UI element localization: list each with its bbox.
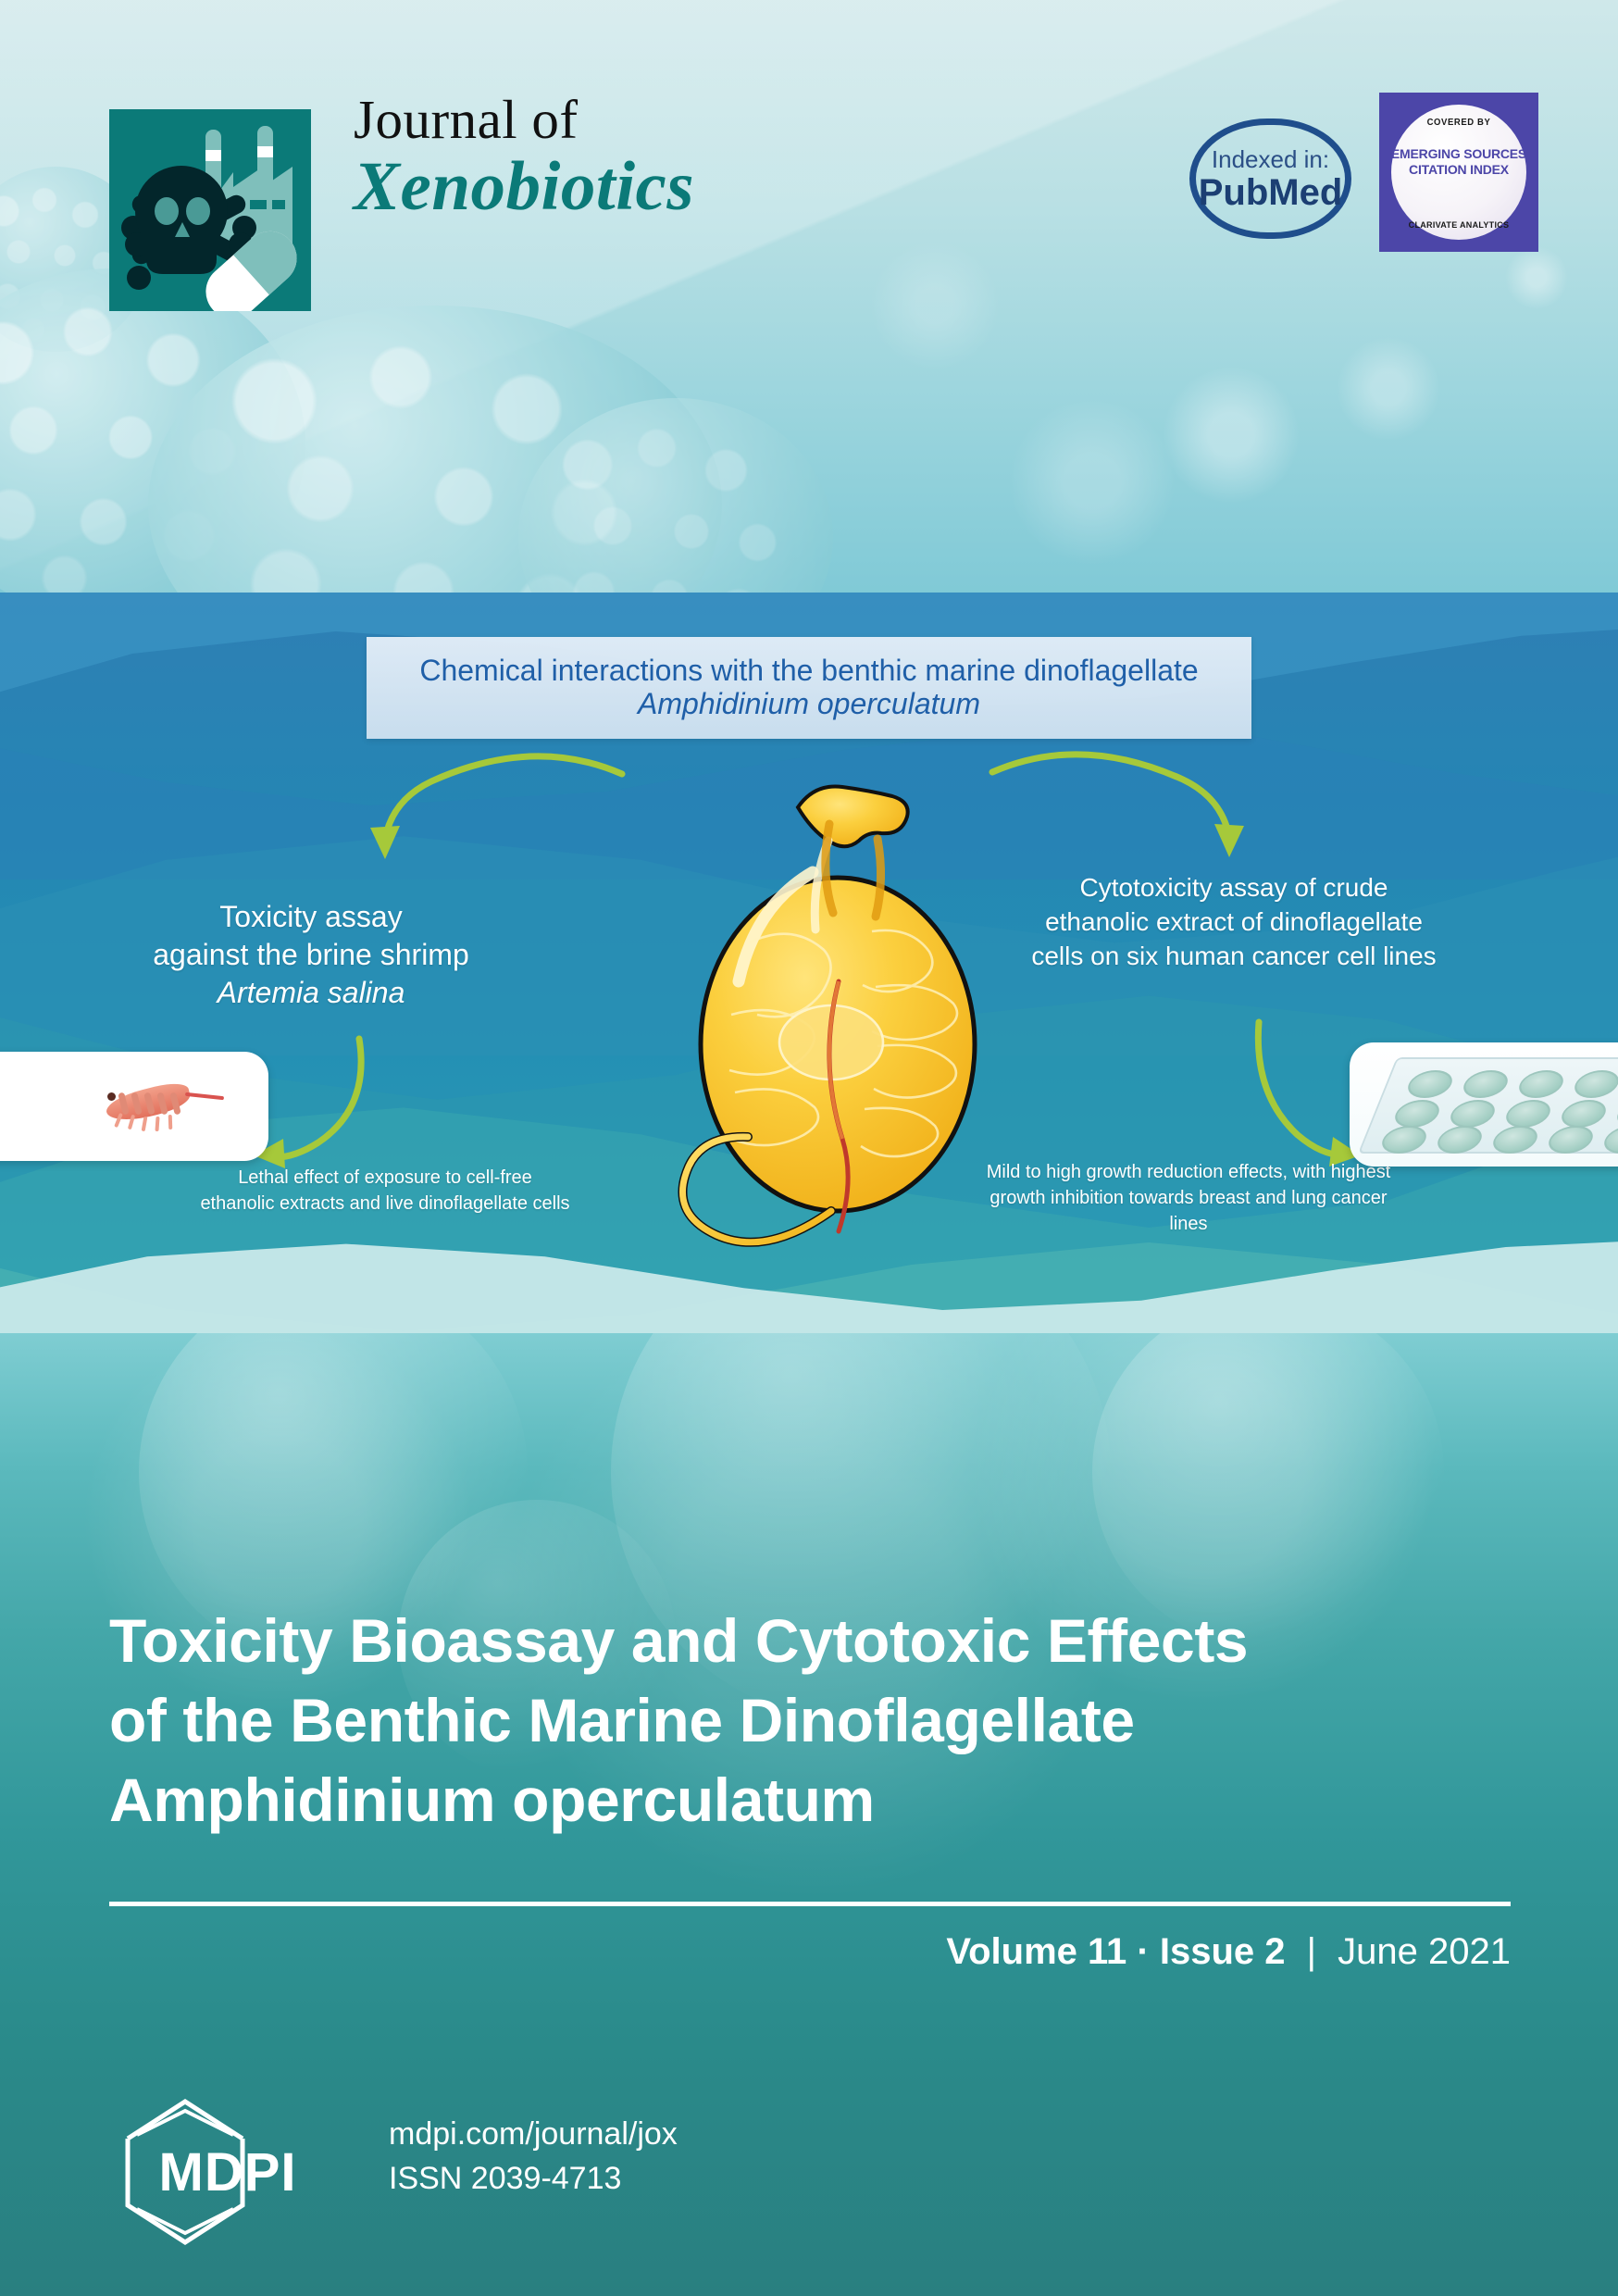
- volume-separator: |: [1296, 1931, 1327, 1972]
- skull-crossbones-factory-pill-icon: [109, 109, 311, 311]
- masthead-band: Journal of Xenobiotics Indexed in: PubMe…: [0, 0, 1618, 602]
- pubmed-badge-prefix: Indexed in:: [1212, 147, 1329, 171]
- right-branch-title: Cytotoxicity assay of crude ethanolic ex…: [1026, 870, 1442, 974]
- journal-logo: [109, 109, 311, 311]
- left-branch-species: Artemia salina: [218, 976, 405, 1009]
- cover-title-line3: Amphidinium operculatum: [109, 1761, 1516, 1841]
- arrow-to-right-branch-icon: [979, 741, 1248, 870]
- right-branch-result-text: Mild to high growth reduction effects, w…: [972, 1159, 1405, 1237]
- volume-issue-line: Volume 11 · Issue 2 | June 2021: [109, 1931, 1511, 1973]
- graphical-abstract: Chemical interactions with the benthic m…: [0, 593, 1618, 1352]
- mdpi-wordmark: MDPI: [117, 2094, 339, 2250]
- seal-bottom-text: CLARIVATE ANALYTICS: [1379, 220, 1538, 230]
- left-branch-title-line1: Toxicity assay: [219, 900, 402, 933]
- cover-title-line1: Toxicity Bioassay and Cytotoxic Effects: [109, 1602, 1516, 1681]
- decorative-sphere: [1092, 1333, 1444, 1648]
- left-branch-result-text: Lethal effect of exposure to cell-free e…: [200, 1165, 570, 1217]
- title-divider-rule: [109, 1902, 1511, 1906]
- issue-date: June 2021: [1338, 1931, 1511, 1972]
- left-branch-title-line2: against the brine shrimp: [153, 938, 469, 971]
- esci-seal-badge: COVERED BY EMERGING SOURCES CITATION IND…: [1379, 93, 1538, 252]
- footer-issn: ISSN 2039-4713: [389, 2157, 678, 2202]
- seal-main-text: EMERGING SOURCES CITATION INDEX: [1388, 146, 1530, 178]
- volume-issue-dot: ·: [1137, 1931, 1149, 1972]
- dinoflagellate-cell-illustration: [639, 750, 1037, 1324]
- issue-label: Issue 2: [1160, 1931, 1286, 1972]
- abstract-banner-line2: Amphidinium operculatum: [638, 688, 980, 721]
- journal-title-block: Journal of Xenobiotics: [354, 93, 694, 224]
- mdpi-logo[interactable]: MDPI: [117, 2094, 339, 2250]
- pubmed-indexed-badge: Indexed in: PubMed: [1189, 119, 1351, 239]
- brine-shrimp-panel: [0, 1052, 268, 1161]
- seal-top-text: COVERED BY: [1379, 117, 1538, 128]
- abstract-banner-line1: Chemical interactions with the benthic m…: [419, 655, 1198, 688]
- volume-label: Volume 11: [946, 1931, 1126, 1972]
- arrow-to-left-branch-icon: [367, 742, 635, 872]
- cover-title-line2: of the Benthic Marine Dinoflagellate: [109, 1681, 1516, 1761]
- brine-shrimp-icon: [93, 1074, 231, 1139]
- footer-info: mdpi.com/journal/jox ISSN 2039-4713: [389, 2113, 678, 2201]
- microplate-panel: [1350, 1042, 1618, 1167]
- journal-title-prefix: Journal of: [354, 93, 694, 147]
- journal-title-name: Xenobiotics: [354, 151, 694, 224]
- abstract-banner: Chemical interactions with the benthic m…: [367, 637, 1251, 739]
- cover-article-title: Toxicity Bioassay and Cytotoxic Effects …: [109, 1602, 1516, 1840]
- footer-website[interactable]: mdpi.com/journal/jox: [389, 2113, 678, 2157]
- left-branch-title: Toxicity assay against the brine shrimp …: [89, 898, 533, 1012]
- microplate-wells-icon: [1377, 1057, 1618, 1154]
- pubmed-badge-name: PubMed: [1199, 174, 1343, 211]
- journal-cover: Journal of Xenobiotics Indexed in: PubMe…: [0, 0, 1618, 2296]
